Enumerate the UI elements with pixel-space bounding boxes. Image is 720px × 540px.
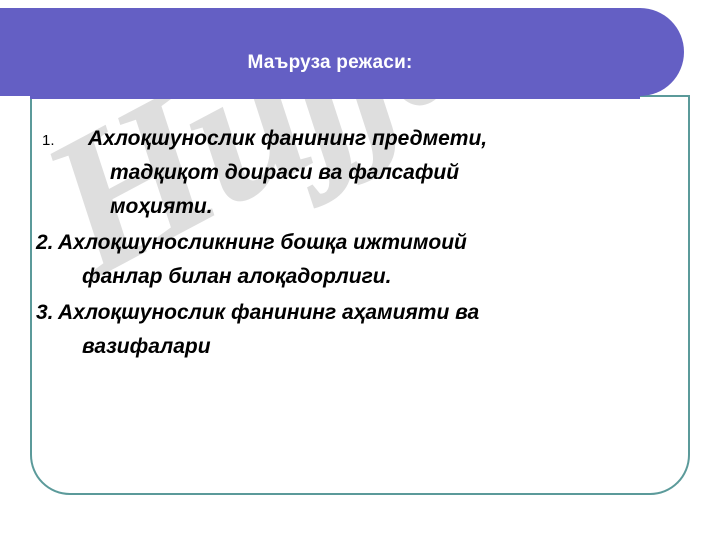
list-item-line-2: фанлар билан алоқадорлиги. [58,260,680,294]
list-item-line-2: вазифалари [58,330,680,364]
list-item: 3. Ахлоқшунослик фанининг аҳамияти ва ва… [30,296,680,364]
list-item: 1. Ахлоқшунослик фанининг предмети, тадқ… [30,122,680,224]
header-underline [30,96,640,99]
list-item-line-1: Ахлоқшуносликнинг бошқа ижтимоий [58,231,467,254]
body-list: 1. Ахлоқшунослик фанининг предмети, тадқ… [30,122,680,366]
list-item-marker: 2. [36,226,54,260]
slide: Hujjat 21 Маъруза режаси: 1. Ахлоқшуносл… [0,0,720,540]
list-item-line-3: моҳияти. [88,190,680,224]
list-item: 2. Ахлоқшуносликнинг бошқа ижтимоий фанл… [30,226,680,294]
list-item-line-1: Ахлоқшунослик фанининг предмети, [88,127,487,150]
list-item-line-2: тадқиқот доираси ва фалсафий [88,156,680,190]
list-item-marker: 3. [36,296,54,330]
list-item-line-1: Ахлоқшунослик фанининг аҳамияти ва [58,301,479,324]
page-title: Маъруза режаси: [0,52,660,74]
list-item-marker: 1. [42,124,55,158]
